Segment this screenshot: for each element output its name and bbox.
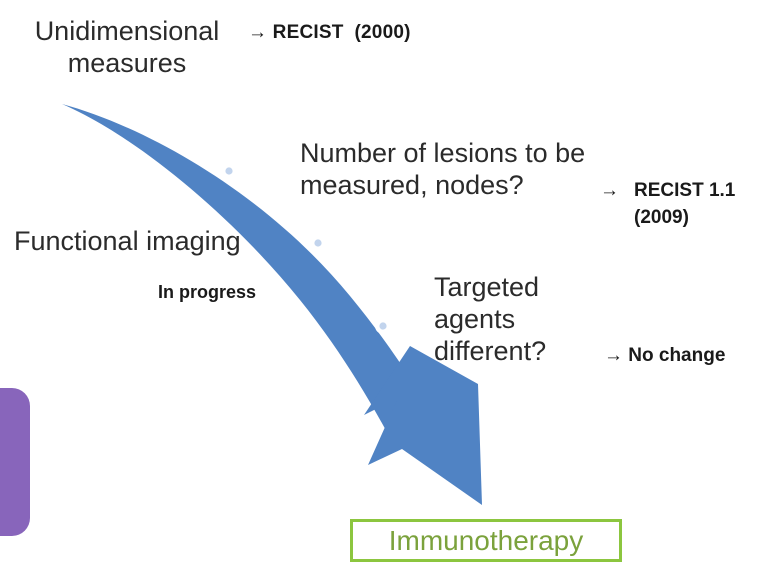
purple-accent-block [0, 388, 30, 536]
slide-canvas: Unidimensional measures → RECIST (2000) … [0, 0, 759, 584]
arrow-head-path [364, 346, 482, 505]
arrow-marker-3-center [379, 322, 386, 329]
label-number-of-lesions: Number of lesions to be measured, nodes? [300, 138, 585, 202]
arrow-marker-1-center [225, 167, 232, 174]
label-no-change: → No change [604, 345, 725, 367]
label-unidimensional-measures: Unidimensional measures [12, 16, 242, 80]
arrow-marker-1 [221, 163, 237, 179]
label-recist-1-1-year: (2009) [634, 207, 689, 229]
arrow-marker-2-center [314, 239, 321, 246]
label-recist-2000: → RECIST (2000) [248, 22, 411, 44]
curved-arrow-graphic [0, 0, 759, 584]
label-recist-1-1: RECIST 1.1 [634, 180, 735, 202]
label-in-progress: In progress [158, 282, 256, 303]
arrow-marker-2 [310, 235, 326, 251]
label-targeted-agents: Targeted agents different? [434, 272, 546, 368]
arrow-marker-3 [375, 318, 391, 334]
immunotherapy-label: Immunotherapy [389, 527, 584, 555]
immunotherapy-callout-box: Immunotherapy [350, 519, 622, 562]
arrow-glyph-recist-11: → [600, 180, 619, 202]
label-functional-imaging: Functional imaging [14, 226, 241, 258]
